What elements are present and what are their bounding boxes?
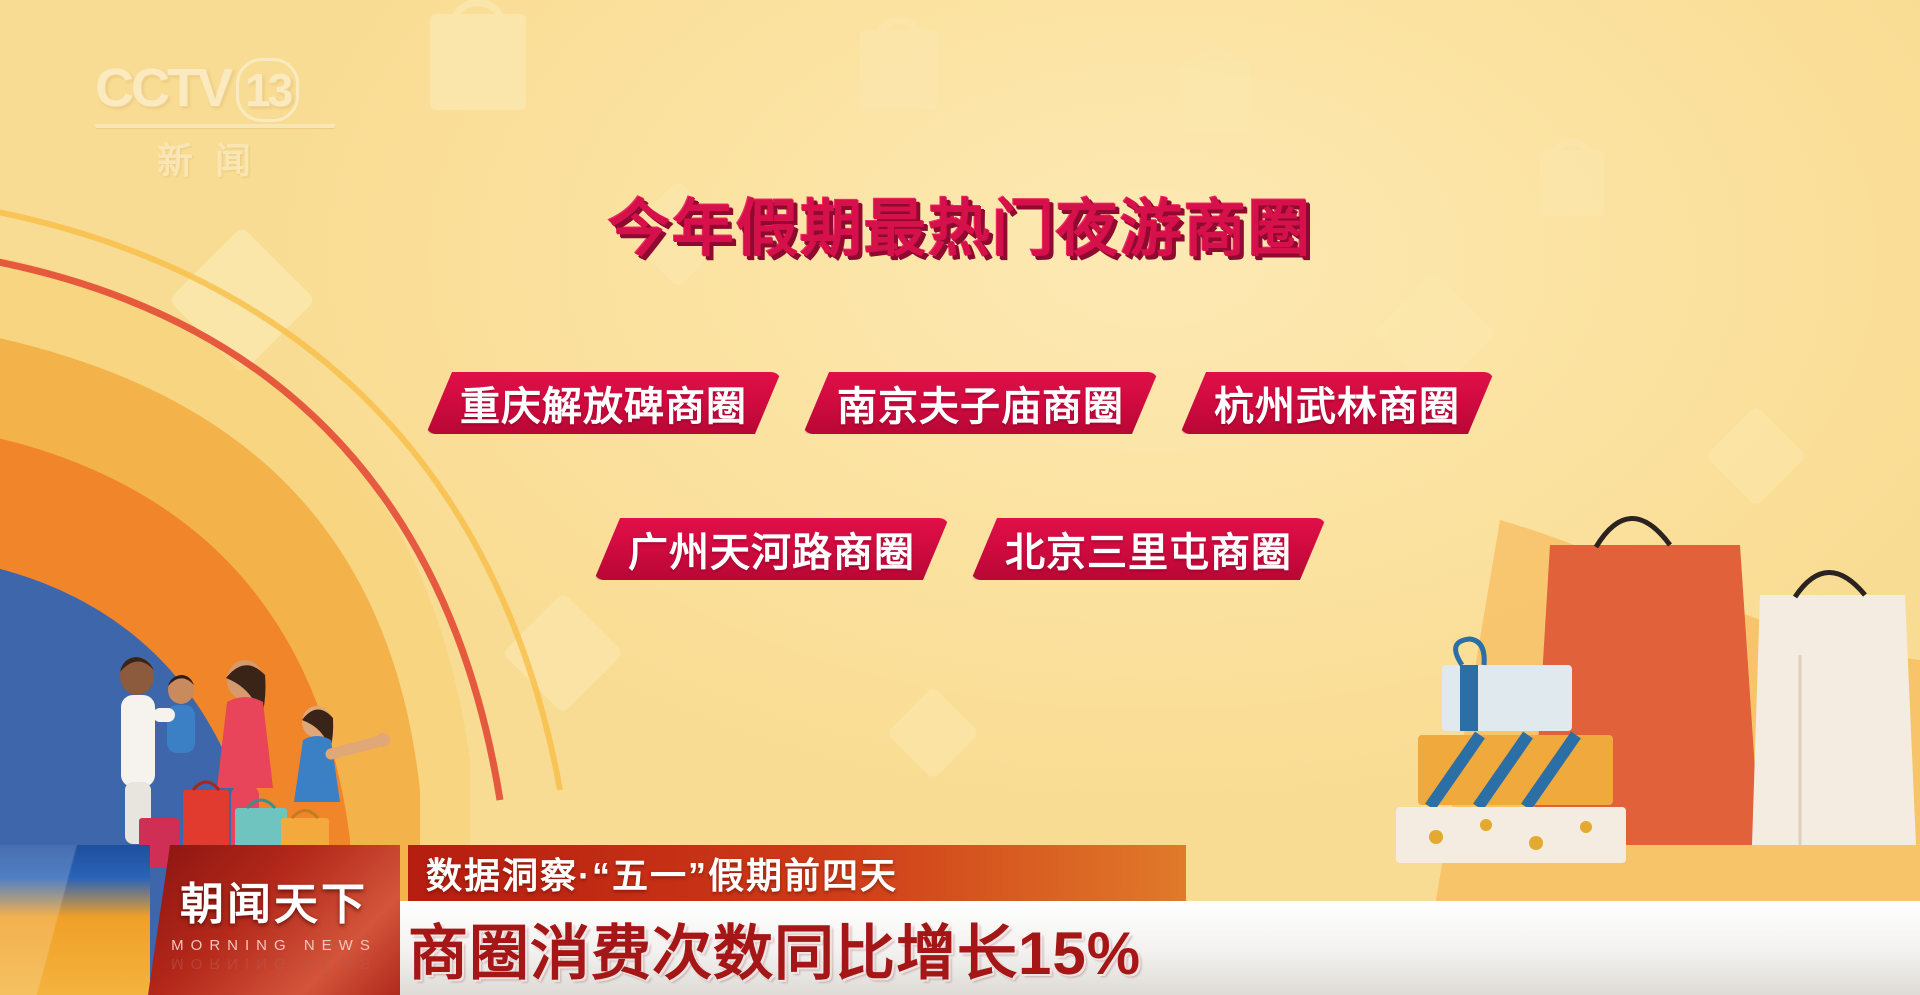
sub-banner: 数据洞察·“五一”假期前四天 xyxy=(408,845,1186,901)
lower-third: 数据洞察·“五一”假期前四天 商圈消费次数同比增长15% 朝闻天下 MORNIN… xyxy=(0,845,1920,995)
district-tag: 北京三里屯商圈 xyxy=(971,518,1326,580)
lower-third-color-strip xyxy=(0,845,150,995)
headline-text: 商圈消费次数同比增长15% xyxy=(408,905,1141,992)
slide-title: 今年假期最热门夜游商圈 xyxy=(0,178,1920,268)
district-tag: 重庆解放碑商圈 xyxy=(426,372,781,434)
program-name-en: MORNING NEWS xyxy=(171,937,377,954)
headline-bar: 商圈消费次数同比增长15% xyxy=(390,901,1920,995)
broadcast-screen: CCTV13 新闻 今年假期最热门夜游商圈 重庆解放碑商圈 南京夫子庙商圈 杭州… xyxy=(0,0,1920,995)
channel-logo-sub: 新闻 xyxy=(95,132,335,184)
district-tag-label: 南京夫子庙商圈 xyxy=(837,374,1124,432)
tag-row-2: 广州天河路商圈 北京三里屯商圈 xyxy=(0,518,1920,580)
program-logo: 朝闻天下 MORNING NEWS MORNING NEWS xyxy=(148,845,400,995)
program-name-cn: 朝闻天下 xyxy=(180,868,368,932)
gift-stack-illustration xyxy=(1360,445,1920,875)
program-name-en-reflection: MORNING NEWS xyxy=(171,955,377,972)
district-tag: 南京夫子庙商圈 xyxy=(803,372,1158,434)
channel-logo-divider xyxy=(95,124,335,128)
channel-logo-number: 13 xyxy=(236,58,299,122)
district-tag-label: 杭州武林商圈 xyxy=(1214,374,1460,432)
tag-row-1: 重庆解放碑商圈 南京夫子庙商圈 杭州武林商圈 xyxy=(0,372,1920,434)
district-tag-label: 北京三里屯商圈 xyxy=(1005,520,1292,578)
district-tag: 广州天河路商圈 xyxy=(594,518,949,580)
district-tag-label: 广州天河路商圈 xyxy=(628,520,915,578)
district-tag-label: 重庆解放碑商圈 xyxy=(460,374,747,432)
channel-logo-cctv: CCTV xyxy=(95,58,230,118)
channel-logo: CCTV13 新闻 xyxy=(95,58,395,170)
district-tag: 杭州武林商圈 xyxy=(1180,372,1494,434)
channel-logo-text: CCTV13 xyxy=(95,58,395,122)
